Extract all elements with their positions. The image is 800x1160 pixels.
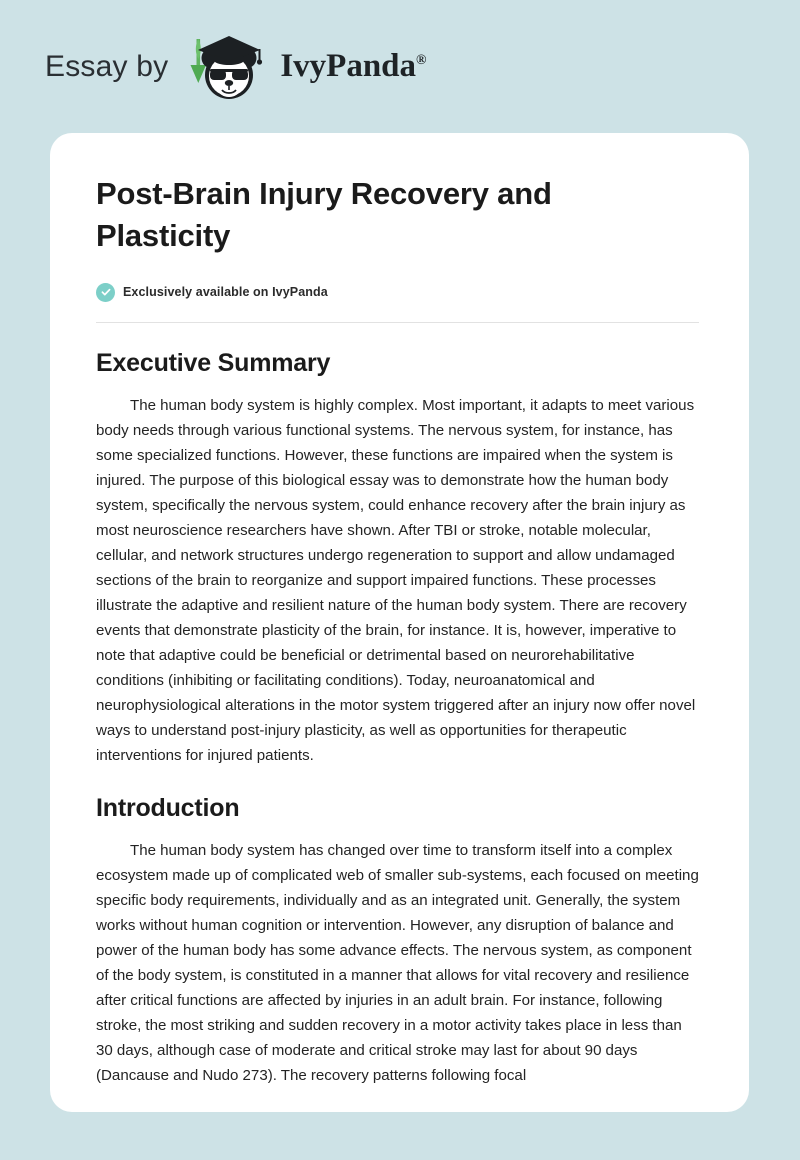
section-executive-summary: Executive Summary The human body system …: [96, 348, 699, 768]
section-heading: Introduction: [96, 793, 699, 824]
registered-trademark-symbol: ®: [416, 53, 426, 68]
section-introduction: Introduction The human body system has c…: [96, 793, 699, 1088]
ivypanda-panda-logo-icon: [182, 31, 274, 103]
exclusive-availability-badge: Exclusively available on IvyPanda: [96, 283, 699, 302]
brand-name-text: IvyPanda: [280, 48, 416, 84]
brand-header: Essay by: [0, 0, 800, 133]
section-paragraph: The human body system is highly complex.…: [96, 393, 699, 768]
check-circle-icon: [96, 283, 115, 302]
section-paragraph: The human body system has changed over t…: [96, 838, 699, 1088]
exclusive-availability-label: Exclusively available on IvyPanda: [123, 285, 328, 299]
essay-by-label: Essay by: [45, 52, 168, 82]
page-title: Post-Brain Injury Recovery and Plasticit…: [96, 173, 616, 257]
ivypanda-wordmark: IvyPanda®: [280, 50, 426, 83]
section-heading: Executive Summary: [96, 348, 699, 379]
essay-card: Post-Brain Injury Recovery and Plasticit…: [50, 133, 749, 1112]
ivypanda-logo-link[interactable]: IvyPanda®: [182, 31, 426, 103]
title-divider: [96, 322, 699, 323]
